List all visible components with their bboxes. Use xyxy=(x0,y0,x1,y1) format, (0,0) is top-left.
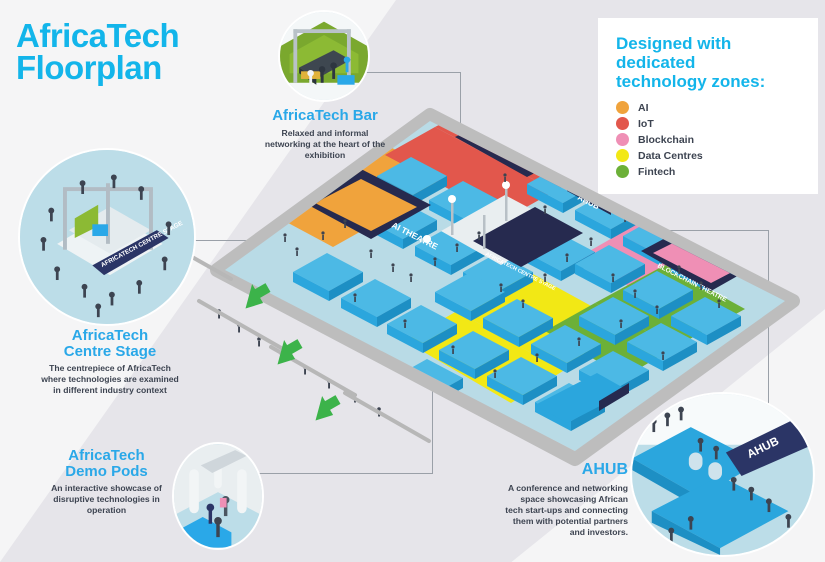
photo-demo-pods[interactable] xyxy=(172,442,264,550)
entrance-arrow-1 xyxy=(237,278,274,312)
connector-bar-horizontal xyxy=(355,72,460,73)
callout-title-centre-stage: AfricaTech Centre Stage xyxy=(10,328,210,359)
page-title: AfricaTech Floorplan xyxy=(16,20,179,85)
legend-item-ai: AI xyxy=(616,101,802,114)
callout-title-demo-pods: AfricaTech Demo Pods xyxy=(34,448,179,479)
callout-desc-africatech-bar: Relaxed and informal networking at the h… xyxy=(250,128,400,161)
callout-desc-centre-stage: The centrepiece of AfricaTech where tech… xyxy=(10,363,210,396)
callout-title-ahub: AHUB xyxy=(478,462,628,479)
legend-dot-ai xyxy=(616,101,629,114)
entrance-arrows xyxy=(240,280,460,440)
photo-africatech-bar[interactable] xyxy=(278,10,370,102)
callout-demo-pods: AfricaTech Demo Pods An interactive show… xyxy=(34,448,179,516)
callout-centre-stage: AfricaTech Centre Stage The centrepiece … xyxy=(10,328,210,396)
legend-heading: Designed with dedicated technology zones… xyxy=(616,34,802,91)
callout-desc-ahub: A conference and networking space showca… xyxy=(478,483,628,538)
infographic-canvas: AfricaTech Floorplan Designed with dedic… xyxy=(0,0,825,562)
callout-africatech-bar: AfricaTech Bar Relaxed and informal netw… xyxy=(250,108,400,161)
entrance-arrow-2 xyxy=(269,334,306,368)
callout-ahub: AHUB A conference and networking space s… xyxy=(478,462,628,538)
legend-label-ai: AI xyxy=(638,102,649,114)
entrance-arrow-3 xyxy=(307,390,344,424)
photo-centre-stage[interactable]: AFRICATECH CENTRE STAGE xyxy=(18,148,196,326)
callout-desc-demo-pods: An interactive showcase of disruptive te… xyxy=(34,483,179,516)
photo-ahub[interactable]: AHUB xyxy=(630,392,815,557)
callout-title-africatech-bar: AfricaTech Bar xyxy=(250,108,400,124)
